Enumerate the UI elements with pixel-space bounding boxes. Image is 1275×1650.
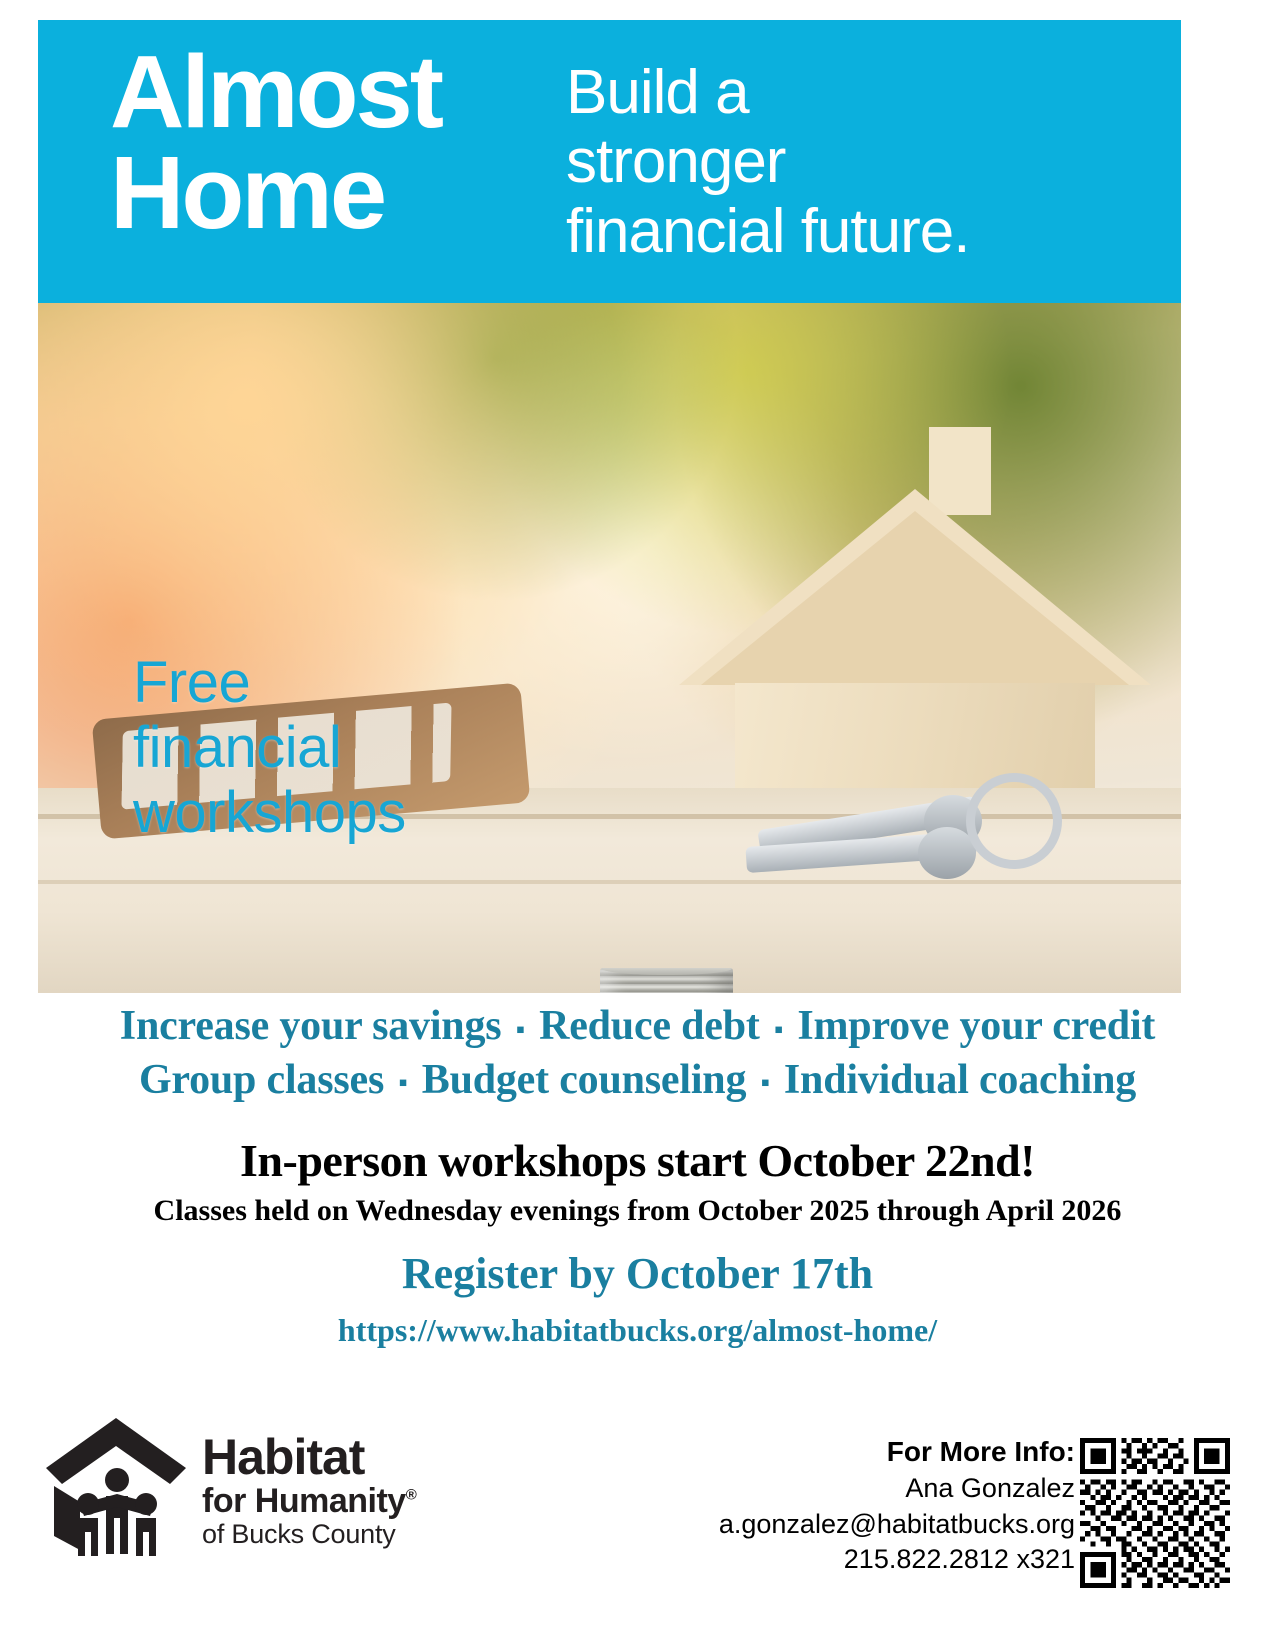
contact-email[interactable]: a.gonzalez@habitatbucks.org <box>719 1507 1075 1543</box>
hero-overlay-line-1: Free <box>133 651 406 716</box>
benefit-item: Improve your credit <box>797 1003 1155 1049</box>
bullet-separator-icon: ▪ <box>394 1068 411 1097</box>
tagline-line-1: Build a <box>566 58 969 127</box>
bullet-separator-icon: ▪ <box>770 1015 787 1044</box>
house-roof-shade <box>701 511 1129 685</box>
qr-code[interactable] <box>1080 1438 1230 1588</box>
benefits-line-2: Group classes ▪ Budget counseling ▪ Indi… <box>0 1054 1275 1108</box>
tagline-block: Build a stronger financial future. <box>538 20 969 266</box>
coin-stack-large <box>600 968 733 993</box>
logo-line-1: Habitat <box>202 1432 416 1482</box>
benefit-item: Budget counseling <box>422 1057 747 1103</box>
hero-overlay-line-2: financial <box>133 716 406 781</box>
contact-phone[interactable]: 215.822.2812 x321 <box>719 1542 1075 1578</box>
benefit-item: Group classes <box>139 1057 384 1103</box>
registration-url-link[interactable]: https://www.habitatbucks.org/almost-home… <box>0 1312 1275 1349</box>
event-headline: In-person workshops start October 22nd! <box>0 1134 1275 1187</box>
logo-wordmark: Habitat for Humanity® of Bucks County <box>202 1410 416 1548</box>
contact-title: For More Info: <box>719 1434 1075 1471</box>
header-banner: Almost Home Build a stronger financial f… <box>38 20 1181 303</box>
hero-overlay-text: Free financial workshops <box>133 651 406 846</box>
contact-block: For More Info: Ana Gonzalez a.gonzalez@h… <box>719 1434 1075 1578</box>
benefits-line-1: Increase your savings ▪ Reduce debt ▪ Im… <box>0 1000 1275 1054</box>
habitat-for-humanity-logo-icon <box>44 1410 190 1560</box>
benefit-item: Increase your savings <box>120 1003 502 1049</box>
benefit-item: Individual coaching <box>784 1057 1136 1103</box>
organization-logo: Habitat for Humanity® of Bucks County <box>44 1410 416 1560</box>
event-schedule-text: Classes held on Wednesday evenings from … <box>0 1194 1275 1228</box>
bullet-separator-icon: ▪ <box>512 1015 529 1044</box>
hero-photo: Free financial workshops <box>38 303 1181 993</box>
house-keys-icon <box>738 775 1058 895</box>
title-block: Almost Home <box>38 20 538 244</box>
hero-overlay-line-3: workshops <box>133 781 406 846</box>
key-ring <box>966 773 1062 869</box>
tagline-line-3: financial future. <box>566 197 969 266</box>
logo-line-3: of Bucks County <box>202 1521 416 1548</box>
register-deadline: Register by October 17th <box>0 1248 1275 1299</box>
benefits-block: Increase your savings ▪ Reduce debt ▪ Im… <box>0 1000 1275 1108</box>
program-title-line-1: Almost <box>110 42 538 143</box>
tagline-line-2: stronger <box>566 127 969 196</box>
bullet-separator-icon: ▪ <box>757 1068 774 1097</box>
logo-line-2-text: for Humanity <box>202 1482 406 1520</box>
registered-mark-icon: ® <box>406 1487 417 1504</box>
program-title-line-2: Home <box>110 143 538 244</box>
benefit-item: Reduce debt <box>539 1003 760 1049</box>
logo-line-2: for Humanity® <box>202 1484 416 1518</box>
contact-name: Ana Gonzalez <box>719 1471 1075 1507</box>
